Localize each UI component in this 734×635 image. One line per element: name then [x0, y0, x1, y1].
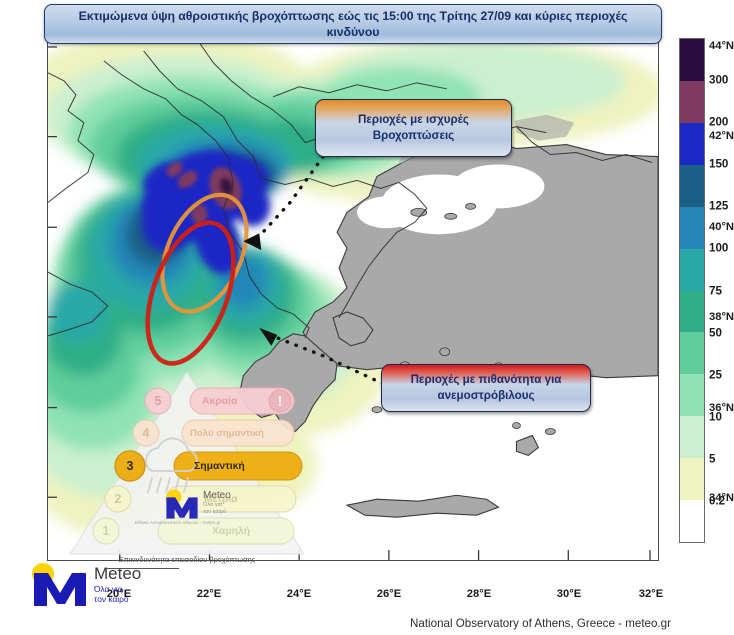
x-tick-26e: 26°E	[377, 588, 401, 600]
x-tick-28e: 28°E	[467, 588, 491, 600]
colorbar-tick-100: 100	[709, 242, 728, 255]
pyramid-level-1-number: 1	[93, 518, 119, 544]
colorbar-tick-300: 300	[709, 74, 728, 87]
callout-heavy-rain-label: Περιοχές με ισχυρές Βροχοπτώσεις	[316, 112, 511, 143]
colorbar-swatch-above-300	[680, 39, 704, 81]
colorbar-swatch-125	[680, 207, 704, 249]
pyramid-level-5-number: 5	[145, 388, 171, 414]
colorbar-swatch-25	[680, 374, 704, 416]
callout-tornado-risk-label: Περιοχές με πιθανότητα για ανεμοστρόβιλο…	[382, 372, 590, 403]
pyramid-level-2-number: 2	[105, 486, 131, 512]
colorbar-tick-125: 125	[709, 200, 728, 213]
pyramid-meteo-tagline-1: Όλα για	[203, 502, 222, 508]
colorbar-tick-0.2: 0.2	[709, 495, 725, 508]
colorbar-swatch-300	[680, 81, 704, 123]
pyramid-level-3-label: Σημαντική	[194, 452, 245, 480]
x-tick-22e: 22°E	[197, 588, 221, 600]
map-title-banner: Εκτιμώμενα ύψη αθροιστικής βροχόπτωσης ε…	[44, 4, 662, 44]
colorbar-swatch-5	[680, 458, 704, 500]
precipitation-colorbar[interactable]: 300 200 150 125 100 75 50 25 10 5 0.2	[679, 38, 705, 543]
pyramid-meteo-tagline-2: τον καιρό	[203, 509, 226, 515]
meteo-m-mark	[167, 498, 197, 518]
colorbar-swatch-75	[680, 291, 704, 333]
colorbar-tick-5: 5	[709, 453, 715, 466]
meteo-logo[interactable]: Meteo Όλα για τον καιρό	[24, 560, 174, 612]
colorbar-tick-25: 25	[709, 369, 722, 382]
x-tick-24e: 24°E	[287, 588, 311, 600]
colorbar-swatch-0.2	[680, 500, 704, 542]
colorbar-swatch-150	[680, 165, 704, 207]
risk-pyramid-legend: 5 4 3 2 1 Ακραία Πολύ σημαντική Σημαντικ…	[62, 368, 312, 563]
pyramid-extreme-exclamation: !	[267, 389, 293, 413]
pyramid-level-5-label: Ακραία	[202, 388, 237, 414]
colorbar-tick-10: 10	[709, 411, 722, 424]
callout-heavy-rain: Περιοχές με ισχυρές Βροχοπτώσεις	[315, 99, 512, 157]
colorbar-tick-50: 50	[709, 327, 722, 340]
pyramid-level-4-label: Πολύ σημαντική	[190, 420, 264, 446]
colorbar-tick-75: 75	[709, 285, 722, 298]
colorbar-tick-150: 150	[709, 158, 728, 171]
pyramid-level-4-number: 4	[133, 420, 159, 446]
colorbar-swatch-50	[680, 332, 704, 374]
meteo-logo-tagline-2: τον καιρό	[94, 594, 129, 604]
map-title: Εκτιμώμενα ύψη αθροιστικής βροχόπτωσης ε…	[45, 8, 661, 40]
colorbar-swatch-10	[680, 416, 704, 458]
source-credit: National Observatory of Athens, Greece -…	[410, 617, 671, 630]
pyramid-level-3-number: 3	[115, 451, 145, 481]
pyramid-meteo-logo: Meteo Όλα για τον καιρό Εθνικό Αστεροσκο…	[157, 488, 277, 524]
x-tick-32e: 32°E	[639, 588, 663, 600]
pyramid-meteo-word: Meteo	[203, 490, 231, 501]
colorbar-tick-200: 200	[709, 116, 728, 129]
weather-map-figure: Εκτιμώμενα ύψη αθροιστικής βροχόπτωσης ε…	[0, 0, 734, 635]
colorbar-swatch-100	[680, 249, 704, 291]
x-tick-30e: 30°E	[557, 588, 581, 600]
callout-tornado-risk: Περιοχές με πιθανότητα για ανεμοστρόβιλο…	[381, 364, 591, 412]
colorbar-gradient	[679, 38, 705, 543]
meteo-m-mark	[34, 573, 86, 606]
pyramid-meteo-sub: Εθνικό Αστεροσκοπείο Αθηνών - meteo.gr	[135, 520, 221, 525]
meteo-logo-word: Meteo	[94, 564, 141, 584]
meteo-logo-tagline-1: Όλα για	[94, 584, 123, 594]
colorbar-swatch-200	[680, 123, 704, 165]
